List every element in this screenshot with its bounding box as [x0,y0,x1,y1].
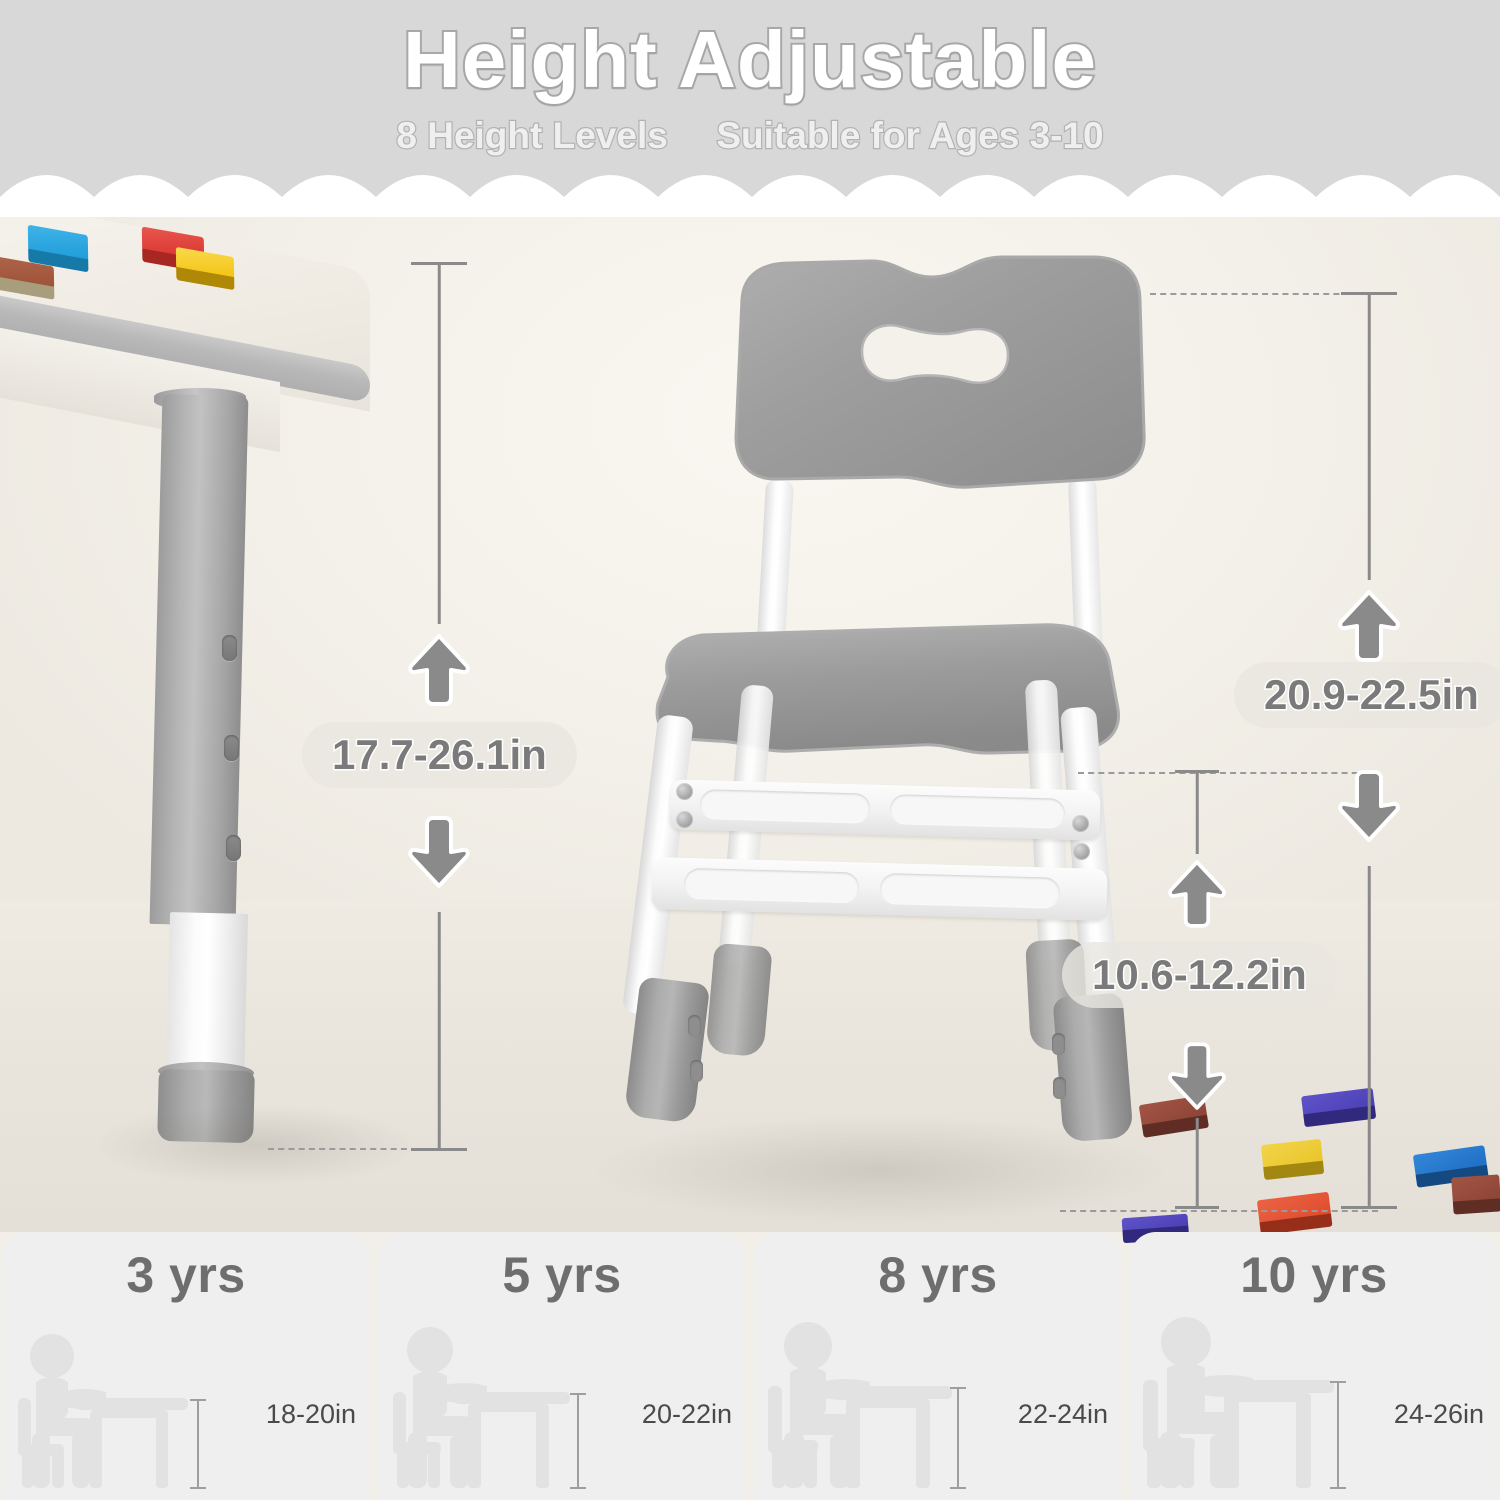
dimension-cap-bottom [1175,1206,1219,1209]
arrow-up-icon [407,632,471,706]
subtitle-levels: 8 Height Levels [396,115,667,156]
chair-foot-adjust-nub [1052,1033,1065,1055]
table-leg-foot-cap [157,1069,255,1143]
age-card-title: 5 yrs [378,1246,746,1304]
dimension-line-lower [1368,866,1371,1208]
page-title: Height Adjustable [0,14,1500,106]
child-at-table-figure [386,1314,636,1494]
chair-screw [676,783,693,800]
chair-foot-adjust-nub [688,1015,701,1037]
dimension-table-height [404,262,474,1152]
age-card-title: 3 yrs [2,1246,370,1304]
age-card-height: 20-22in [642,1399,732,1430]
yellow-block [1261,1139,1323,1169]
header-banner: Height Adjustable 8 Height Levels Suitab… [0,0,1500,215]
table-leg-lower-tube [166,912,248,1084]
age-card: 5 yrs [378,1232,746,1500]
age-card: 10 yrs [1130,1232,1498,1500]
dimension-line-lower [438,912,441,1150]
age-card-title: 10 yrs [1130,1246,1498,1304]
child-at-table-figure [1138,1314,1388,1494]
dimension-cap-bottom [1341,1206,1397,1209]
infographic-page: 17.7-26.1in 20.9-22.5in [0,0,1500,1500]
chair-foot-adjust-nub [690,1060,703,1082]
age-card-title: 8 yrs [754,1246,1122,1304]
chair-screw [1073,843,1090,860]
header-scallop-edge [0,157,1500,217]
table-leg-adjust-hole [222,635,237,661]
chair-crossbar-lower [651,857,1107,921]
dimension-line-lower [1196,1118,1199,1208]
dimension-label-chair-seat-height: 10.6-12.2in [1062,942,1337,1008]
arrow-up-icon [1337,588,1401,662]
adjustable-table [0,190,420,1190]
chair-foot-adjust-nub [1053,1077,1066,1099]
dimension-line-upper [438,264,441,624]
table-leg-adjust-hole [224,735,239,761]
chair-backrest [720,255,1160,500]
age-card: 8 yrs [754,1232,1122,1500]
dimension-label-table-height: 17.7-26.1in [302,722,577,788]
age-card-height: 24-26in [1394,1399,1484,1430]
adjustable-chair [580,255,1200,1215]
chair-foot-cap-right-front [1052,992,1133,1142]
chair-foot-cap-left-back [705,943,772,1058]
chair-screw [1072,815,1089,832]
child-at-table-figure [10,1314,260,1494]
arrow-up-icon [1167,858,1227,928]
arrow-down-icon [407,816,471,890]
table-leg-adjust-hole [226,835,241,861]
child-at-table-figure [762,1314,1012,1494]
dimension-chair-back-height [1334,292,1404,1212]
crossbar-slot [880,873,1061,909]
brown-block [1451,1174,1500,1203]
crossbar-slot [890,794,1066,829]
page-subtitle: 8 Height Levels Suitable for Ages 3-10 [0,115,1500,157]
age-card-height: 22-24in [1018,1399,1108,1430]
subtitle-ages: Suitable for Ages 3-10 [716,115,1103,156]
age-recommendation-strip: 3 yrs [0,1232,1500,1500]
chair-screw [676,811,693,828]
arrow-down-icon [1167,1042,1227,1112]
dimension-cap-bottom [411,1148,467,1151]
age-card-height: 18-20in [266,1399,356,1430]
crossbar-slot [700,789,871,823]
crossbar-slot [684,868,860,904]
dimension-label-chair-back-height: 20.9-22.5in [1234,662,1500,728]
age-card: 3 yrs [2,1232,370,1500]
dimension-line-upper [1196,772,1199,854]
arrow-down-icon [1337,770,1401,844]
dimension-line-upper [1368,294,1371,580]
